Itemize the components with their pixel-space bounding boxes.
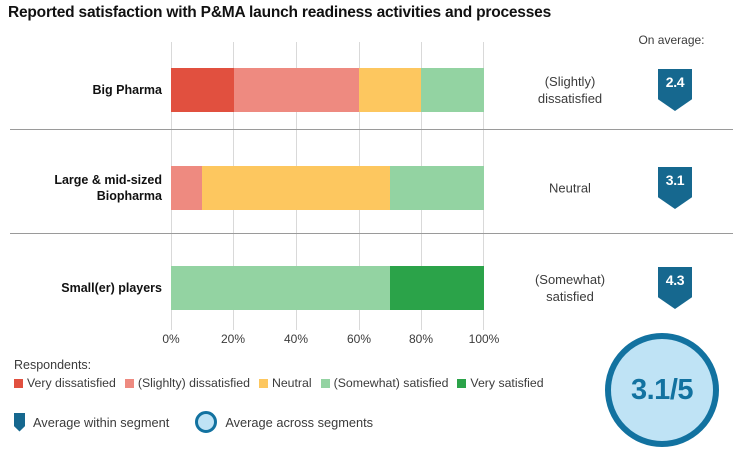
legend-title: Respondents:	[14, 358, 654, 372]
bar-segment-very-satisfied[interactable]	[390, 266, 484, 310]
verdict-label: Neutral	[500, 180, 640, 197]
verdict-label: (Somewhat) satisfied	[500, 271, 640, 305]
stacked-bar	[171, 166, 484, 210]
legend-item-somewhat-satisfied[interactable]: (Somewhat) satisfied	[321, 376, 449, 390]
marker-legend: Average within segment Average across se…	[14, 411, 399, 433]
average-value: 4.3	[666, 267, 685, 293]
average-value: 2.4	[666, 69, 685, 95]
bar-segment-very-dissatisfied[interactable]	[171, 68, 234, 112]
bar-segment-somewhat-satisfied[interactable]	[171, 266, 390, 310]
page-title: Reported satisfaction with P&MA launch r…	[8, 4, 728, 22]
legend-swatch-icon	[321, 379, 330, 388]
verdict-label: (Slightly) dissatisfied	[500, 73, 640, 107]
legend-item-neutral[interactable]: Neutral	[259, 376, 312, 390]
bar-segment-slightly-dissatisfied[interactable]	[234, 68, 359, 112]
legend-item-average-within-segment[interactable]: Average within segment	[14, 413, 169, 432]
category-line-1: Large & mid-sized	[10, 172, 162, 188]
legend-label: Average across segments	[225, 415, 373, 430]
average-value: 3.1	[666, 167, 685, 193]
ring-icon	[195, 411, 217, 433]
category-label: Big Pharma	[10, 82, 162, 98]
pennant-icon: 3.1	[658, 167, 692, 209]
x-tick-0: 0%	[141, 332, 201, 346]
legend-label: Very satisfied	[470, 376, 543, 390]
category-line-2: Biopharma	[10, 188, 162, 204]
category-label: Small(er) players	[10, 280, 162, 296]
verdict-line-1: Neutral	[500, 180, 640, 197]
x-tick-20: 20%	[203, 332, 263, 346]
legend-label: (Slighlty) dissatisfied	[138, 376, 250, 390]
pennant-icon: 2.4	[658, 69, 692, 111]
legend-label: (Somewhat) satisfied	[334, 376, 449, 390]
verdict-line-2: satisfied	[500, 288, 640, 305]
chart-row-smaller-players: Small(er) players (Somewhat) satisfied 4…	[0, 240, 743, 336]
legend-label: Average within segment	[33, 415, 169, 430]
chart-root: Reported satisfaction with P&MA launch r…	[0, 0, 743, 453]
bar-segment-neutral[interactable]	[202, 166, 390, 210]
pennant-icon: 4.3	[658, 267, 692, 309]
legend-label: Neutral	[272, 376, 312, 390]
legend-swatch-icon	[259, 379, 268, 388]
average-badge: 4.3	[658, 267, 692, 309]
verdict-line-2: dissatisfied	[500, 90, 640, 107]
legend-item-slightly-dissatisfied[interactable]: (Slighlty) dissatisfied	[125, 376, 250, 390]
average-badge: 2.4	[658, 69, 692, 111]
overall-average-circle: 3.1/5	[605, 333, 719, 447]
x-tick-100: 100%	[454, 332, 514, 346]
legend-item-very-satisfied[interactable]: Very satisfied	[457, 376, 543, 390]
average-badge: 3.1	[658, 167, 692, 209]
legend-swatch-icon	[457, 379, 466, 388]
bar-segment-somewhat-satisfied[interactable]	[421, 68, 484, 112]
legend: Respondents: Very dissatisfied (Slighlty…	[14, 358, 654, 390]
chart-row-large-mid-biopharma: Large & mid-sized Biopharma Neutral 3.1	[0, 140, 743, 236]
overall-average-value: 3.1/5	[631, 374, 693, 407]
verdict-line-1: (Slightly)	[500, 73, 640, 90]
x-tick-80: 80%	[391, 332, 451, 346]
x-tick-40: 40%	[266, 332, 326, 346]
chart-row-big-pharma: Big Pharma (Slightly) dissatisfied 2.4	[0, 42, 743, 138]
bar-segment-neutral[interactable]	[359, 68, 422, 112]
pennant-icon	[14, 413, 25, 432]
bar-segment-slightly-dissatisfied[interactable]	[171, 166, 202, 210]
verdict-line-1: (Somewhat)	[500, 271, 640, 288]
bar-segment-somewhat-satisfied[interactable]	[390, 166, 484, 210]
category-label: Large & mid-sized Biopharma	[10, 172, 162, 204]
stacked-bar	[171, 266, 484, 310]
stacked-bar	[171, 68, 484, 112]
legend-swatch-icon	[125, 379, 134, 388]
legend-item-very-dissatisfied[interactable]: Very dissatisfied	[14, 376, 116, 390]
x-tick-60: 60%	[329, 332, 389, 346]
legend-item-average-across-segments[interactable]: Average across segments	[195, 411, 373, 433]
legend-label: Very dissatisfied	[27, 376, 116, 390]
legend-items: Very dissatisfied (Slighlty) dissatisfie…	[14, 376, 654, 390]
legend-swatch-icon	[14, 379, 23, 388]
